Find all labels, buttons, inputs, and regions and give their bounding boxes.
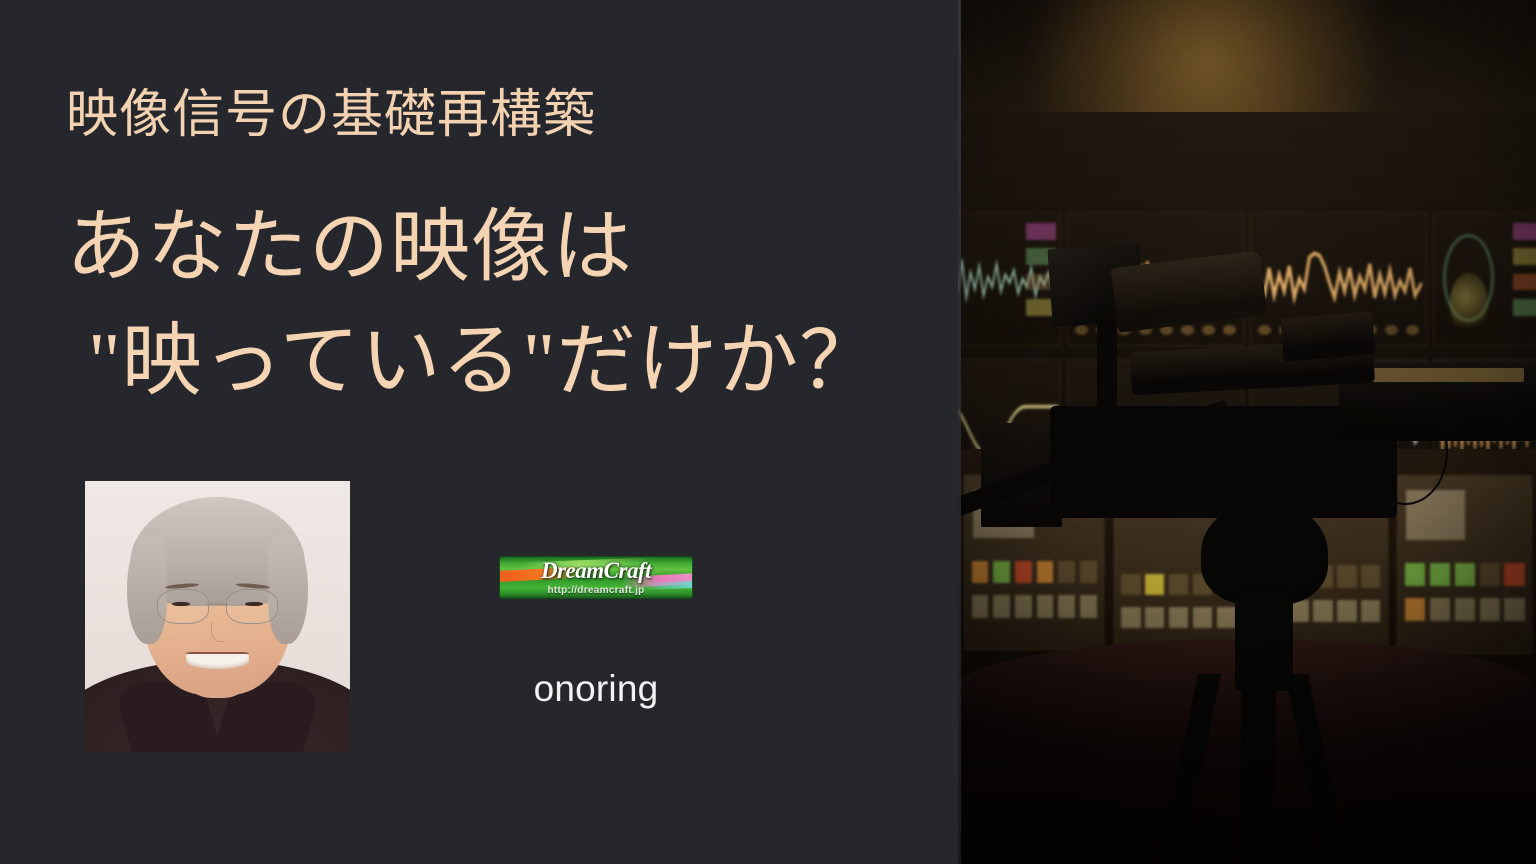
panel-led-row [1405,563,1525,586]
panel-button-row [972,595,1097,617]
vectorscope-fill [1450,273,1488,334]
panel-led-row [972,561,1097,583]
presenter-handle: onoring [500,668,692,710]
portrait-hair-right [268,535,308,643]
tripod-leg-center [1241,674,1276,864]
monitor-status-chips [1513,223,1536,315]
waveform-monitor [958,212,1061,346]
left-text-panel: 映像信号の基礎再構築 あなたの映像は "映っている"だけか？ [0,0,958,864]
studio-photo [958,0,1536,864]
studio-canvas [958,0,1536,864]
title-line-1: あなたの映像は [66,192,916,306]
camera-cable-loop [1363,397,1448,505]
portrait-glasses-bridge [207,603,228,605]
portrait-nose [211,622,225,642]
portrait-canvas [85,481,350,752]
portrait-glasses-left [157,589,209,624]
waveform-trace [1254,247,1422,310]
title-line-2: "映っている"だけか？ [66,306,916,420]
portrait-hair-left [127,535,167,643]
logo-url-text: http://dreamcraft.jp [500,585,692,596]
portrait-mouth [186,652,250,669]
slide-subtitle: 映像信号の基礎再構築 [66,88,596,144]
presenter-portrait-photo [85,481,350,752]
title-slide: 映像信号の基礎再構築 あなたの映像は "映っている"だけか？ [0,0,1536,864]
camera-lens-highlight [1351,368,1524,382]
panel-button-row [1405,598,1525,621]
portrait-glasses-right [226,589,278,624]
camera-microphone [1280,311,1376,362]
studio-photo-left-edge [958,0,961,864]
dreamcraft-logo[interactable]: DreamCraft http://dreamcraft.jp [500,557,692,598]
camera-viewfinder-mount [1097,320,1117,406]
vectorscope-monitor [1433,212,1536,346]
logo-wordmark: DreamCraft [500,559,692,583]
slide-title: あなたの映像は "映っている"だけか？ [66,192,916,419]
